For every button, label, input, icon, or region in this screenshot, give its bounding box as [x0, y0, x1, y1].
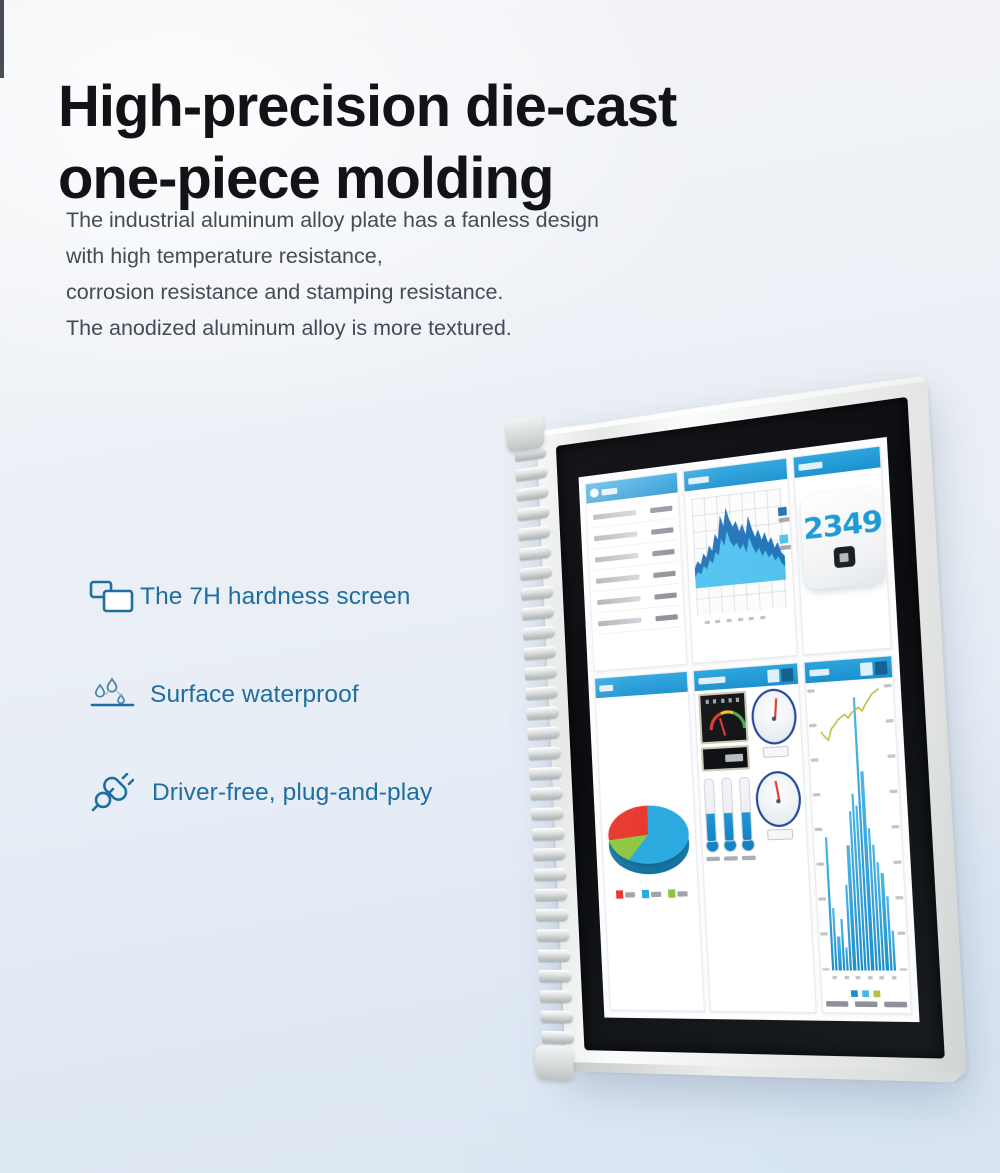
industrial-panel-pc: 2349: [500, 353, 975, 1091]
bar-chart-footer: [822, 988, 911, 1013]
bar-panel-buttons: [860, 660, 888, 675]
axis-tick: [856, 976, 861, 979]
heat-sink-fin: [534, 868, 567, 881]
dial-gauge: [750, 687, 798, 745]
bar-chart-legend: [851, 990, 881, 997]
panel-button[interactable]: [781, 668, 794, 682]
panel-button[interactable]: [767, 669, 779, 683]
row-value: [651, 527, 673, 535]
axis-tick: [818, 898, 826, 901]
pie-chart-legend: [616, 889, 688, 899]
panel-title-text: [809, 668, 829, 676]
gauge-panel-body: [695, 684, 803, 775]
heat-sink-fin: [530, 787, 563, 801]
axis-tick: [887, 754, 895, 757]
axis-tick: [844, 976, 849, 979]
dashboard-row-bottom: [594, 655, 912, 1014]
area-chart-body: [685, 479, 797, 663]
panel-title-text: [601, 487, 617, 495]
heat-sink-fin: [529, 767, 562, 781]
legend-item: [668, 889, 688, 898]
heat-sink-fin: [539, 970, 572, 982]
heat-sink-fin: [537, 929, 570, 941]
feature-list: The 7H hardness screen Surface waterproo…: [84, 572, 554, 866]
gauge-panel-buttons: [767, 668, 793, 683]
panel-title-text: [688, 475, 709, 484]
axis-tick: [897, 932, 905, 935]
feature-label: Surface waterproof: [150, 681, 359, 709]
description-line-4: The anodized aluminum alloy is more text…: [66, 310, 856, 346]
row-value: [654, 592, 676, 599]
counter-card: 2349: [800, 487, 887, 591]
screen-bezel: 2349: [556, 397, 945, 1059]
heat-sink-fin: [517, 505, 549, 521]
row-label: [597, 595, 641, 604]
axis-tick: [893, 861, 901, 864]
heat-sink-fin: [531, 807, 564, 820]
panel-icon: [590, 488, 599, 498]
heat-sink-fin: [515, 465, 547, 481]
waterproof-droplet-icon: [84, 672, 140, 718]
thermometer: [703, 778, 719, 861]
axis-tick: [880, 976, 885, 979]
dial-gauge-group: [750, 687, 799, 769]
axis-tick: [807, 689, 815, 692]
area-chart-panel[interactable]: [683, 457, 798, 664]
axis-tick: [891, 825, 899, 828]
panel-title-text: [599, 684, 613, 691]
heat-sink-fin: [526, 706, 559, 720]
axis-tick: [899, 968, 907, 971]
counter-badge: [833, 546, 855, 569]
thermometers: [702, 772, 755, 863]
row-label: [595, 552, 638, 562]
row-label: [598, 617, 642, 626]
row-label: [596, 574, 640, 584]
axis-tick: [868, 976, 873, 979]
heat-sink-fin: [520, 565, 553, 580]
axis-tick: [820, 933, 828, 936]
scada-dashboard: 2349: [579, 437, 920, 1022]
dial-gauge-group-2: [754, 770, 804, 862]
counter-value: 2349: [803, 507, 883, 545]
pie-chart-3d: [605, 800, 693, 882]
axis-tick: [889, 790, 897, 793]
axis-tick: [892, 976, 897, 979]
heat-sink-fin: [516, 485, 548, 501]
axis-tick: [811, 758, 819, 761]
description-paragraph: The industrial aluminum alloy plate has …: [66, 202, 856, 346]
heat-sink-fin: [518, 525, 550, 541]
heat-sink-fin: [532, 827, 565, 840]
legend-item: [616, 890, 635, 899]
heat-sink-fin: [539, 990, 572, 1003]
analog-meter-group: [698, 691, 750, 772]
heat-sink-fin: [522, 605, 555, 620]
feature-label: The 7H hardness screen: [140, 583, 410, 611]
area-chart-svg: [691, 488, 786, 588]
page-title: High-precision die-cast one-piece moldin…: [58, 71, 848, 215]
feature-item-hardness: The 7H hardness screen: [84, 572, 554, 622]
heat-sink-fin: [526, 686, 559, 700]
heat-sink-fin: [527, 726, 560, 740]
mounting-tab-top: [506, 414, 545, 453]
row-value: [653, 570, 675, 577]
headline-line-1: High-precision die-cast: [58, 74, 676, 139]
heat-sink-fin: [523, 625, 556, 640]
product-image: 2349: [515, 415, 1000, 1145]
panel-title-text: [798, 461, 822, 470]
left-edge-strip: [0, 0, 4, 78]
feature-item-waterproof: Surface waterproof: [84, 670, 554, 720]
mounting-tab-bottom: [534, 1045, 574, 1081]
axis-tick: [895, 896, 903, 899]
dashboard-row-top: 2349: [585, 445, 892, 671]
axis-tick: [884, 684, 892, 687]
counter-panel-body: 2349: [795, 467, 891, 654]
thermometer: [721, 778, 737, 861]
list-panel-body: [587, 492, 687, 670]
dial-hub: [776, 799, 781, 803]
trend-line-series: [817, 685, 884, 751]
dial-hub: [772, 716, 777, 721]
row-label: [594, 531, 637, 541]
bar-x-axis: [832, 976, 896, 980]
legend-item: [779, 534, 793, 550]
heat-sink-fin: [540, 1011, 573, 1024]
dial-gauge-label: [763, 746, 789, 758]
pie-chart-panel[interactable]: [594, 671, 705, 1012]
feature-item-plug-and-play: Driver-free, plug-and-play: [84, 768, 554, 818]
display-screen[interactable]: 2349: [579, 437, 920, 1022]
heat-sink-fin: [533, 848, 566, 861]
area-chart-plot: [691, 488, 787, 615]
bar-chart-plot: [806, 677, 910, 988]
heat-sink-fin: [528, 746, 561, 760]
heat-sink-fin: [525, 666, 558, 681]
panel-title-text: [698, 676, 725, 684]
meter-arc: [707, 702, 748, 732]
bar-chart-panel[interactable]: [803, 655, 912, 1014]
axis-tick: [813, 793, 821, 796]
list-panel[interactable]: [585, 472, 688, 672]
legend-item: [778, 506, 792, 522]
heat-sink-fin: [536, 909, 569, 922]
axis-tick: [822, 968, 830, 971]
thermometer: [738, 777, 754, 860]
description-line-1: The industrial aluminum alloy plate has …: [66, 202, 856, 238]
heat-sink-fin: [535, 888, 568, 901]
thermometer-group: [702, 772, 755, 863]
screens-icon: [84, 574, 140, 620]
row-value: [655, 614, 677, 621]
panel-button[interactable]: [860, 662, 873, 676]
dial-gauge: [754, 770, 802, 828]
heat-sink-fin: [521, 585, 554, 600]
pie-chart-body: [596, 692, 704, 1011]
area-x-ticks: [702, 615, 769, 624]
gauge-panel-lower: [699, 770, 808, 867]
counter-panel[interactable]: 2349: [792, 445, 891, 655]
gauge-panel[interactable]: [693, 662, 817, 1013]
row-label: [593, 509, 636, 519]
heat-sink-fin: [519, 545, 552, 561]
axis-tick: [886, 719, 894, 722]
axis-tick: [809, 724, 817, 727]
description-line-2: with high temperature resistance,: [66, 238, 856, 274]
dial-gauge-label: [767, 829, 793, 841]
axis-tick: [832, 976, 837, 979]
bar-chart-footnote: [826, 1001, 907, 1007]
feature-label: Driver-free, plug-and-play: [152, 779, 432, 807]
area-chart-legend: [778, 506, 793, 550]
analog-meter: [698, 691, 749, 745]
axis-tick: [816, 863, 824, 866]
heat-sink-fin: [538, 950, 571, 962]
row-value: [650, 505, 672, 513]
description-line-3: corrosion resistance and stamping resist…: [66, 274, 856, 310]
panel-button[interactable]: [874, 660, 887, 674]
legend-item: [641, 890, 661, 899]
axis-tick: [815, 828, 823, 831]
row-value: [652, 548, 674, 556]
heat-sink-fin: [541, 1031, 574, 1044]
heat-sink-fin: [524, 646, 557, 661]
plug-connector-icon: [84, 770, 140, 816]
digital-readout: [701, 745, 750, 772]
